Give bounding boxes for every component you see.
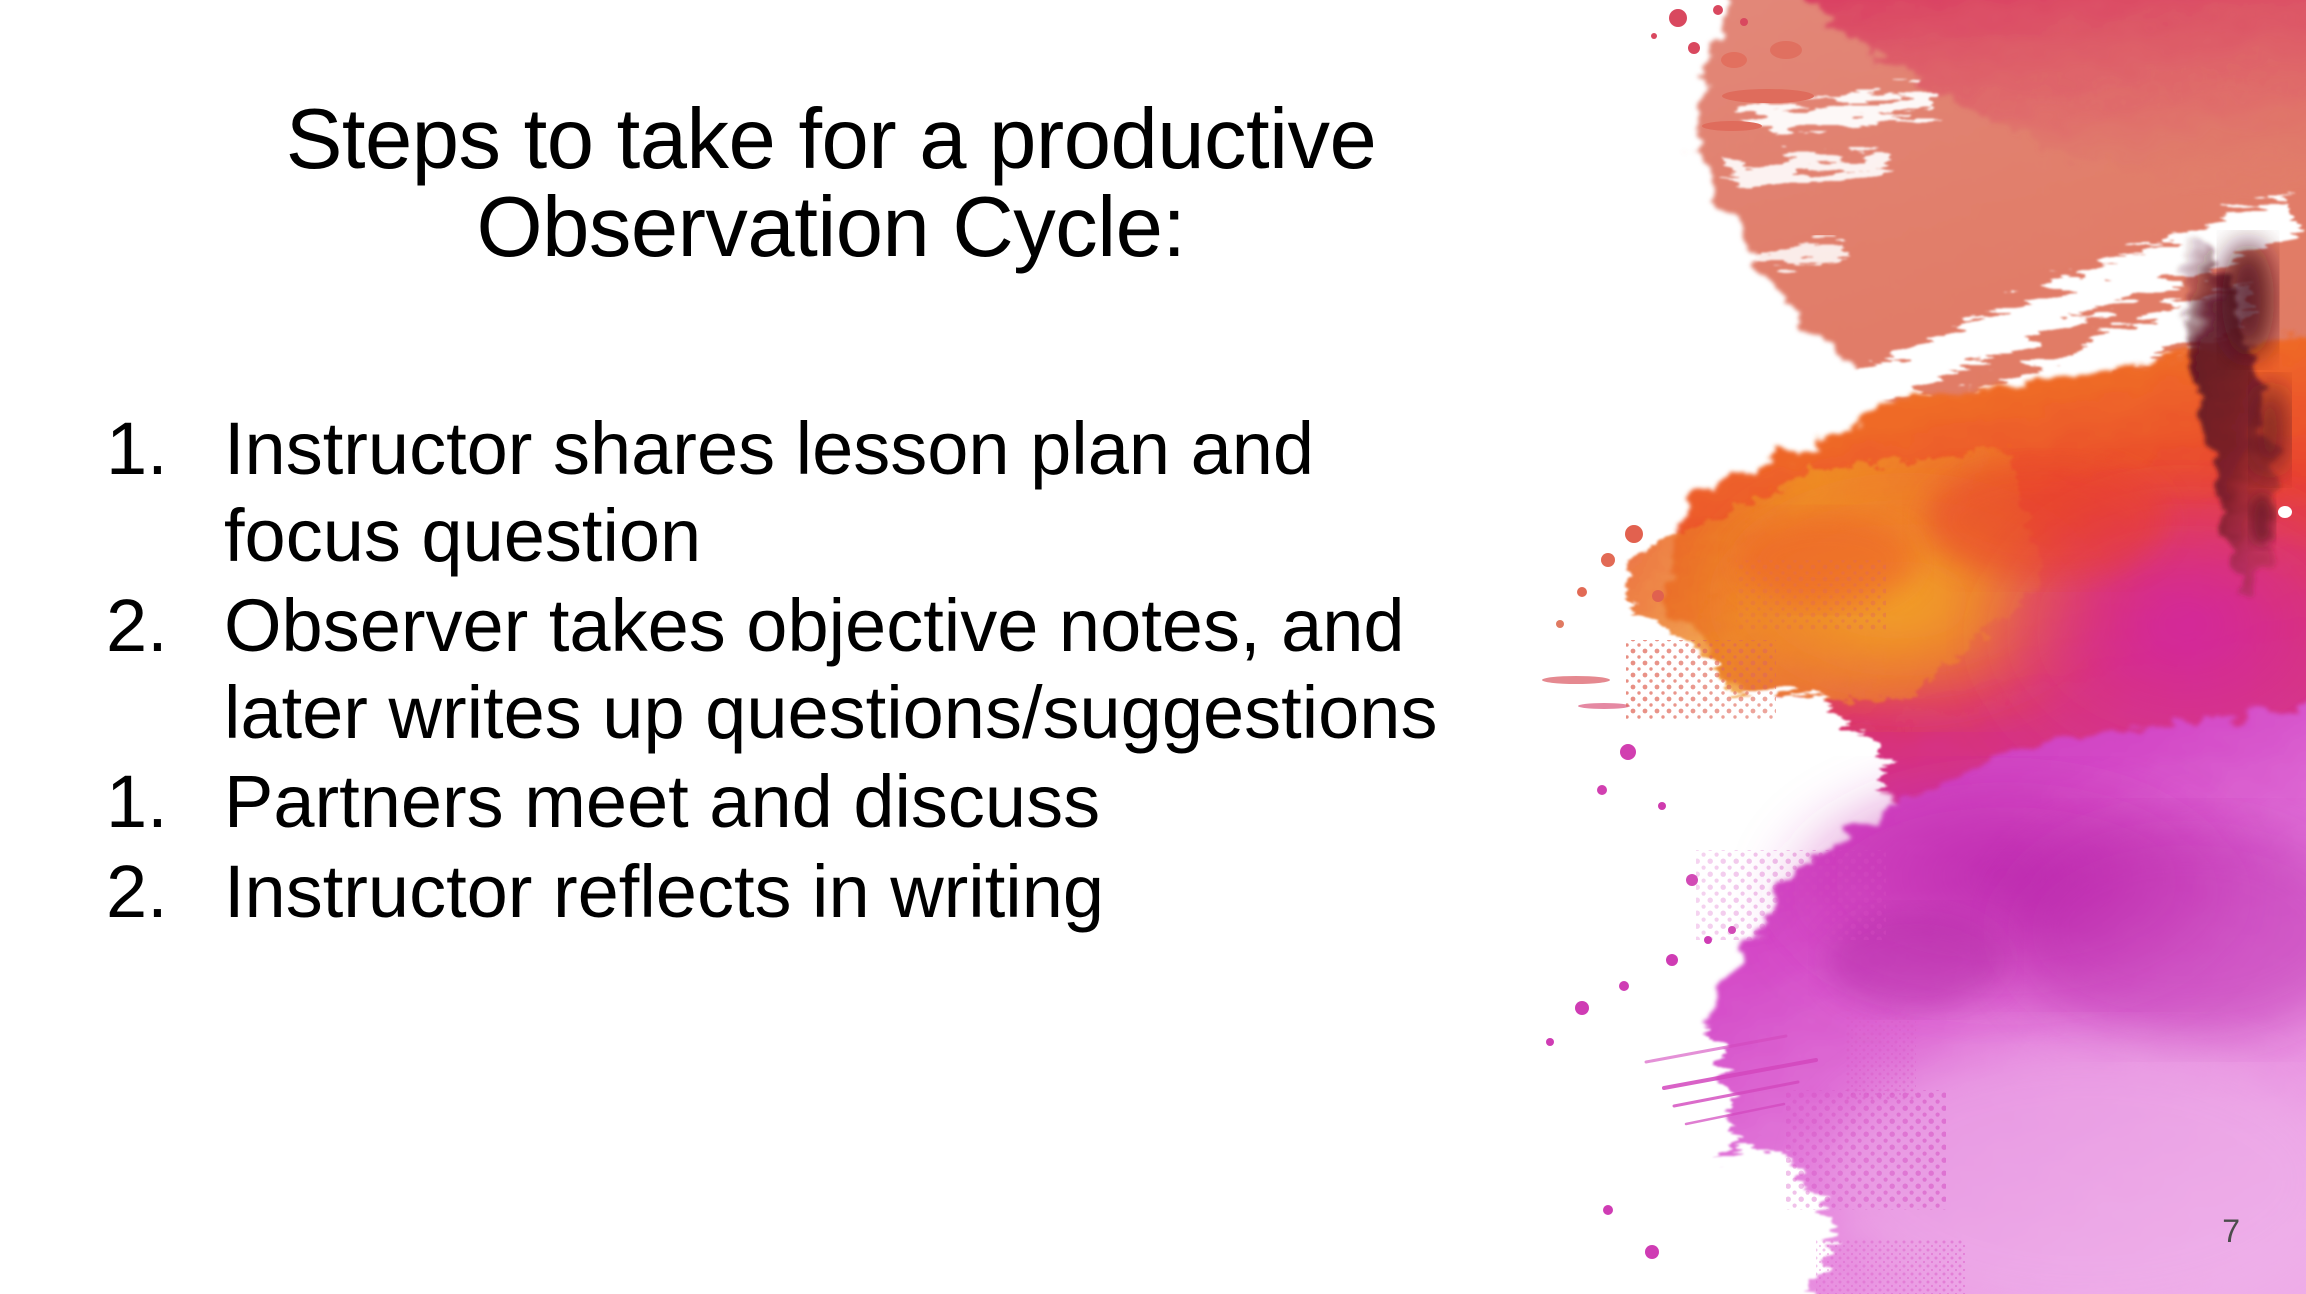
list-item-number: 1. bbox=[96, 758, 224, 845]
list-item: 1. Instructor shares lesson plan and foc… bbox=[96, 405, 1576, 580]
brush-streaks-bottom bbox=[1646, 1036, 1816, 1124]
numbered-step-list: 1. Instructor shares lesson plan and foc… bbox=[96, 405, 1576, 937]
list-item-text: Partners meet and discuss bbox=[224, 758, 1444, 845]
list-item-number: 2. bbox=[96, 582, 224, 669]
list-item: 1. Partners meet and discuss bbox=[96, 758, 1576, 845]
list-item-text: Observer takes objective notes, and late… bbox=[224, 582, 1444, 757]
halftone-dots-mid bbox=[1626, 560, 1886, 720]
list-item: 2. Instructor reflects in writing bbox=[96, 848, 1576, 935]
magenta-field-group bbox=[1486, 700, 2306, 1294]
page-number: 7 bbox=[2222, 1213, 2240, 1250]
list-item-number: 1. bbox=[96, 405, 224, 492]
title-line-2: Observation Cycle: bbox=[96, 184, 1566, 272]
maroon-vein-group bbox=[2186, 236, 2292, 600]
title-line-1: Steps to take for a productive bbox=[96, 96, 1566, 184]
splatter-dots-top bbox=[1651, 5, 1814, 131]
list-item-text: Instructor shares lesson plan and focus … bbox=[224, 405, 1444, 580]
watercolor-splash-artwork bbox=[1486, 0, 2306, 1294]
hot-band-group bbox=[1626, 330, 2306, 900]
list-item: 2. Observer takes objective notes, and l… bbox=[96, 582, 1576, 757]
list-item-number: 2. bbox=[96, 848, 224, 935]
slide-canvas: Steps to take for a productive Observati… bbox=[0, 0, 2306, 1294]
halftone-dots-bottom bbox=[1696, 850, 1966, 1294]
splatter-dots-bottom bbox=[1546, 936, 1712, 1259]
salmon-wash-group bbox=[1606, 0, 2306, 612]
list-item-text: Instructor reflects in writing bbox=[224, 848, 1444, 935]
page-title: Steps to take for a productive Observati… bbox=[96, 96, 1566, 271]
